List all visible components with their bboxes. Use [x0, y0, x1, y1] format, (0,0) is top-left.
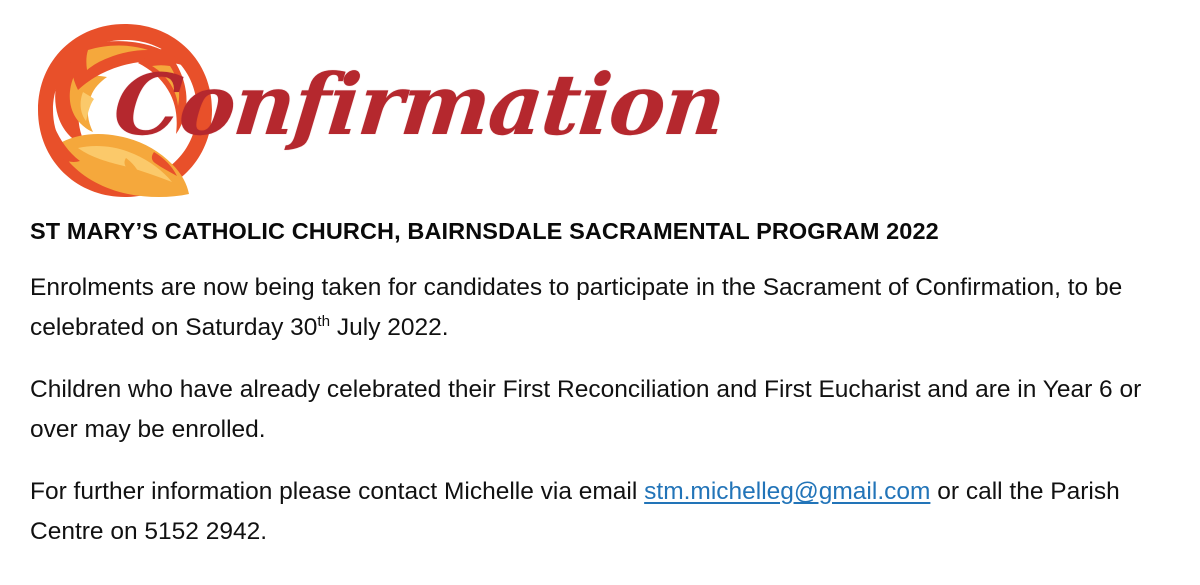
logo-wordmark-text: Confirmation	[108, 50, 591, 170]
contact-text-part-1: For further information please contact M…	[30, 478, 644, 505]
page-title: ST MARY’S CATHOLIC CHURCH, BAIRNSDALE SA…	[30, 216, 1180, 246]
paragraph-enrolments: Enrolments are now being taken for candi…	[30, 268, 1175, 348]
flyer-page: Confirmation ST MARY’S CATHOLIC CHURCH, …	[0, 0, 1200, 585]
eligibility-text: Children who have already celebrated the…	[30, 376, 1141, 443]
ordinal-suffix: th	[317, 313, 330, 330]
confirmation-logo: Confirmation	[18, 8, 578, 208]
enrolments-text-part-2: July 2022.	[330, 314, 449, 341]
document-text-body: ST MARY’S CATHOLIC CHURCH, BAIRNSDALE SA…	[30, 216, 1180, 552]
email-link[interactable]: stm.michelleg@gmail.com	[644, 478, 930, 505]
enrolments-text-part-1: Enrolments are now being taken for candi…	[30, 274, 1122, 341]
paragraph-eligibility: Children who have already celebrated the…	[30, 370, 1175, 450]
paragraph-contact: For further information please contact M…	[30, 472, 1175, 552]
